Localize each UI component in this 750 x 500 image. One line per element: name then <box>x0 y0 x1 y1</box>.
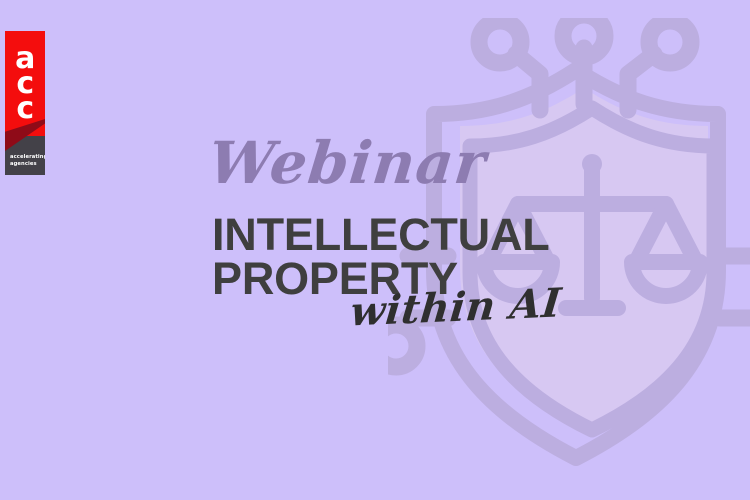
headline-block: Webinar INTELLECTUAL PROPERTY within AI <box>0 0 750 500</box>
script-tag-within-ai: within AI <box>349 283 564 332</box>
kicker-webinar: Webinar <box>206 134 489 192</box>
title-line-1: INTELLECTUAL <box>212 212 550 257</box>
webinar-banner: a c c accelerating agencies Webinar INTE… <box>0 0 750 500</box>
